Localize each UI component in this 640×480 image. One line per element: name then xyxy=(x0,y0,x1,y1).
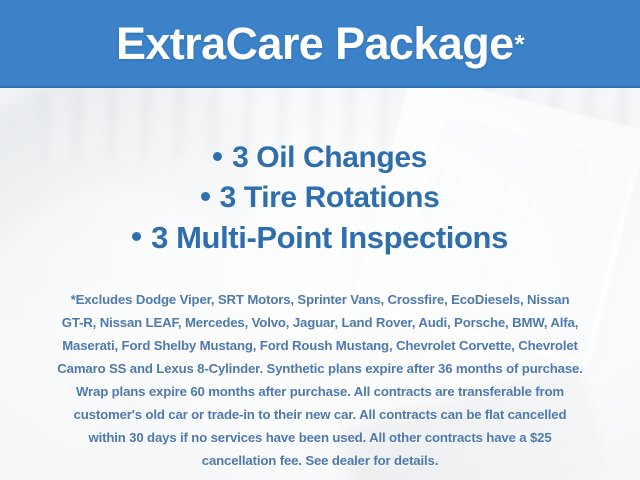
disclaimer-line: *Excludes Dodge Viper, SRT Motors, Sprin… xyxy=(28,288,612,311)
page-title-text: ExtraCare Package xyxy=(116,18,514,70)
bullet-dot-icon xyxy=(132,232,141,241)
list-item-label: 3 Oil Changes xyxy=(232,141,427,174)
bullet-dot-icon xyxy=(213,152,222,161)
list-item: 3 Oil Changes xyxy=(0,138,640,178)
disclaimer-line: cancellation fee. See dealer for details… xyxy=(28,449,612,472)
bullet-dot-icon xyxy=(201,192,210,201)
page-title-asterisk: * xyxy=(515,31,525,57)
disclaimer-line: customer's old car or trade-in to their … xyxy=(28,403,612,426)
benefits-list: 3 Oil Changes 3 Tire Rotations 3 Multi-P… xyxy=(0,138,640,258)
list-item: 3 Multi-Point Inspections xyxy=(0,218,640,258)
disclaimer-line: Maserati, Ford Shelby Mustang, Ford Rous… xyxy=(28,334,612,357)
page-title: ExtraCare Package* xyxy=(0,0,640,88)
list-item-label: 3 Multi-Point Inspections xyxy=(151,220,508,255)
disclaimer-line: Wrap plans expire 60 months after purcha… xyxy=(28,380,612,403)
disclaimer-line: Camaro SS and Lexus 8-Cylinder. Syntheti… xyxy=(28,357,612,380)
extracare-package-ad: ExtraCare Package* 3 Oil Changes 3 Tire … xyxy=(0,0,640,480)
disclaimer-line: GT-R, Nissan LEAF, Mercedes, Volvo, Jagu… xyxy=(28,311,612,334)
disclaimer-line: within 30 days if no services have been … xyxy=(28,426,612,449)
list-item: 3 Tire Rotations xyxy=(0,178,640,218)
list-item-label: 3 Tire Rotations xyxy=(220,181,440,214)
disclaimer-text: *Excludes Dodge Viper, SRT Motors, Sprin… xyxy=(28,288,612,472)
